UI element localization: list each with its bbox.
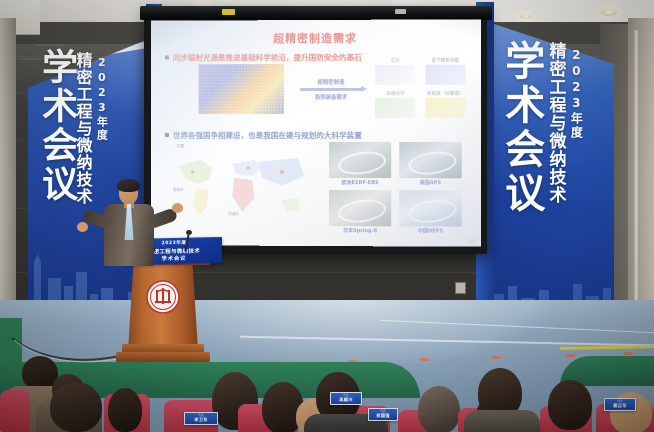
slide-heatmap-figure	[199, 64, 284, 114]
audience-name-placard: 代表 吴顺兴	[330, 392, 362, 405]
audience-head	[50, 382, 102, 432]
projected-slide: 超精密制造需求 同步辐射光源是推进基础科学前沿，提升国防安全的基石 超精密制造 …	[151, 19, 481, 246]
icon-caption: 芯片	[391, 58, 400, 64]
conference-photo-scene: 2023年度 精密工程与微纳技术 学术会议 2023年度 精密工程与微纳技术 学…	[0, 0, 654, 432]
placard-name: 蔡正华	[613, 404, 626, 408]
banner-right-main-title: 学术会议	[500, 40, 541, 216]
audience-row: 代表 李卫东 代表 吴顺兴 代表 郑国强 代表 蔡正华	[0, 352, 654, 432]
roller-badge-icon	[395, 9, 406, 14]
wall-left-edge	[0, 18, 16, 338]
thumbnail-caption: 中国HEPS	[418, 227, 443, 234]
thumbnail-caption: 欧洲ESRF-EBS	[341, 179, 378, 186]
storage-ring-shape	[407, 149, 458, 178]
slide-arrow-annotation: 超精密制造 极限装备需求	[300, 78, 362, 101]
facility-photo-icon	[329, 190, 391, 226]
slide-bullet-2-text: 世界各强国争相建设，也是我国在建与规划的大科学装置	[173, 130, 362, 141]
projection-screen-roller	[140, 6, 492, 20]
banner-left-year: 2023年度	[96, 56, 107, 142]
map-note: 已运行	[228, 212, 239, 217]
slide-thumbnail: 美国APS	[398, 142, 463, 186]
facility-photo-icon	[399, 142, 462, 178]
speaker-left-hand	[77, 222, 88, 232]
slide-bullet-2: 世界各强国争相建设，也是我国在建与规划的大科学装置	[165, 130, 362, 141]
chip-icon	[375, 65, 415, 85]
audience-name-placard: 代表 郑国强	[368, 408, 398, 421]
podium-banner-main: 学术会议	[162, 255, 187, 263]
university-emblem-icon	[146, 280, 180, 314]
bullet-square-icon	[165, 133, 169, 137]
slide-icon-cell: 新能源（核聚变）	[422, 90, 469, 120]
banner-right-subtitle: 精密工程与微纳技术	[546, 42, 564, 204]
quantum-sensor-icon	[425, 65, 465, 85]
microphone-head-icon	[186, 230, 192, 235]
fusion-energy-icon	[425, 97, 465, 117]
thumbnail-caption: 日本Spring-8	[343, 227, 377, 234]
arrow-bar-icon	[300, 88, 362, 91]
roller-badge-icon	[222, 9, 235, 15]
map-note: 规划中	[173, 188, 184, 193]
audience-name-placard: 代表 李卫东	[184, 412, 218, 425]
wall-conduit-pipe	[634, 30, 639, 320]
icon-caption: 高端光学	[386, 90, 404, 96]
speaker-right-hand	[172, 203, 183, 213]
wall-far-right-column	[628, 18, 654, 328]
slide-thumbnail-grid: 欧洲ESRF-EBS 美国APS 日本Spring-8 中国HEPS	[328, 142, 463, 235]
audience-shoulders	[464, 410, 540, 432]
slide-thumbnail: 日本Spring-8	[328, 190, 392, 234]
banner-left-main-title: 学术会议	[38, 48, 75, 204]
slide-thumbnail: 欧洲ESRF-EBS	[328, 142, 392, 186]
facility-photo-icon	[329, 142, 391, 178]
audience-name-placard: 代表 蔡正华	[604, 398, 636, 411]
slide-title: 超精密制造需求	[151, 29, 481, 46]
slide-bullet-1-text: 同步辐射光源是推进基础科学前沿，提升国防安全的基石	[173, 52, 362, 64]
slide-page-number: 15	[470, 239, 475, 244]
heatmap-dot-pattern	[199, 64, 284, 114]
bullet-square-icon	[165, 55, 169, 59]
podium-banner-year: 2023年度	[162, 240, 187, 247]
audience-head	[108, 388, 142, 432]
downlight-icon	[601, 9, 617, 16]
placard-name: 吴顺兴	[339, 398, 352, 402]
slide-icon-cell: 高端光学	[372, 90, 419, 120]
storage-ring-shape	[337, 149, 388, 177]
audience-head	[418, 386, 460, 432]
arrow-label-top: 超精密制造	[300, 78, 362, 86]
slide-icon-cell: 芯片	[372, 58, 419, 88]
slide-thumbnail: 中国HEPS	[398, 190, 463, 234]
icon-caption: 量子精密测量	[431, 58, 459, 64]
arrow-label-bottom: 极限装备需求	[300, 93, 362, 101]
audience-head	[548, 380, 592, 430]
world-map-figure	[171, 150, 310, 222]
placard-name: 李卫东	[194, 418, 207, 422]
facility-photo-icon	[399, 190, 462, 226]
slide-bullet-1: 同步辐射光源是推进基础科学前沿，提升国防安全的基石	[165, 52, 362, 64]
wall-scuff	[36, 44, 66, 46]
slide-icon-cell: 量子精密测量	[422, 58, 469, 88]
storage-ring-shape	[337, 197, 388, 225]
slide-icon-grid: 芯片 量子精密测量 高端光学 新能源（核聚变）	[372, 58, 469, 120]
placard-name: 郑国强	[376, 414, 389, 418]
banner-right-year: 2023年度	[570, 48, 582, 140]
map-note: 在建	[177, 144, 184, 149]
wall-outlet-icon	[455, 282, 466, 294]
downlight-icon	[520, 14, 532, 19]
icon-caption: 新能源（核聚变）	[427, 90, 464, 96]
optics-icon	[375, 97, 415, 117]
audience-seat	[0, 390, 30, 432]
thumbnail-caption: 美国APS	[420, 179, 441, 186]
speaker-hair	[117, 179, 140, 192]
storage-ring-shape	[407, 197, 458, 225]
